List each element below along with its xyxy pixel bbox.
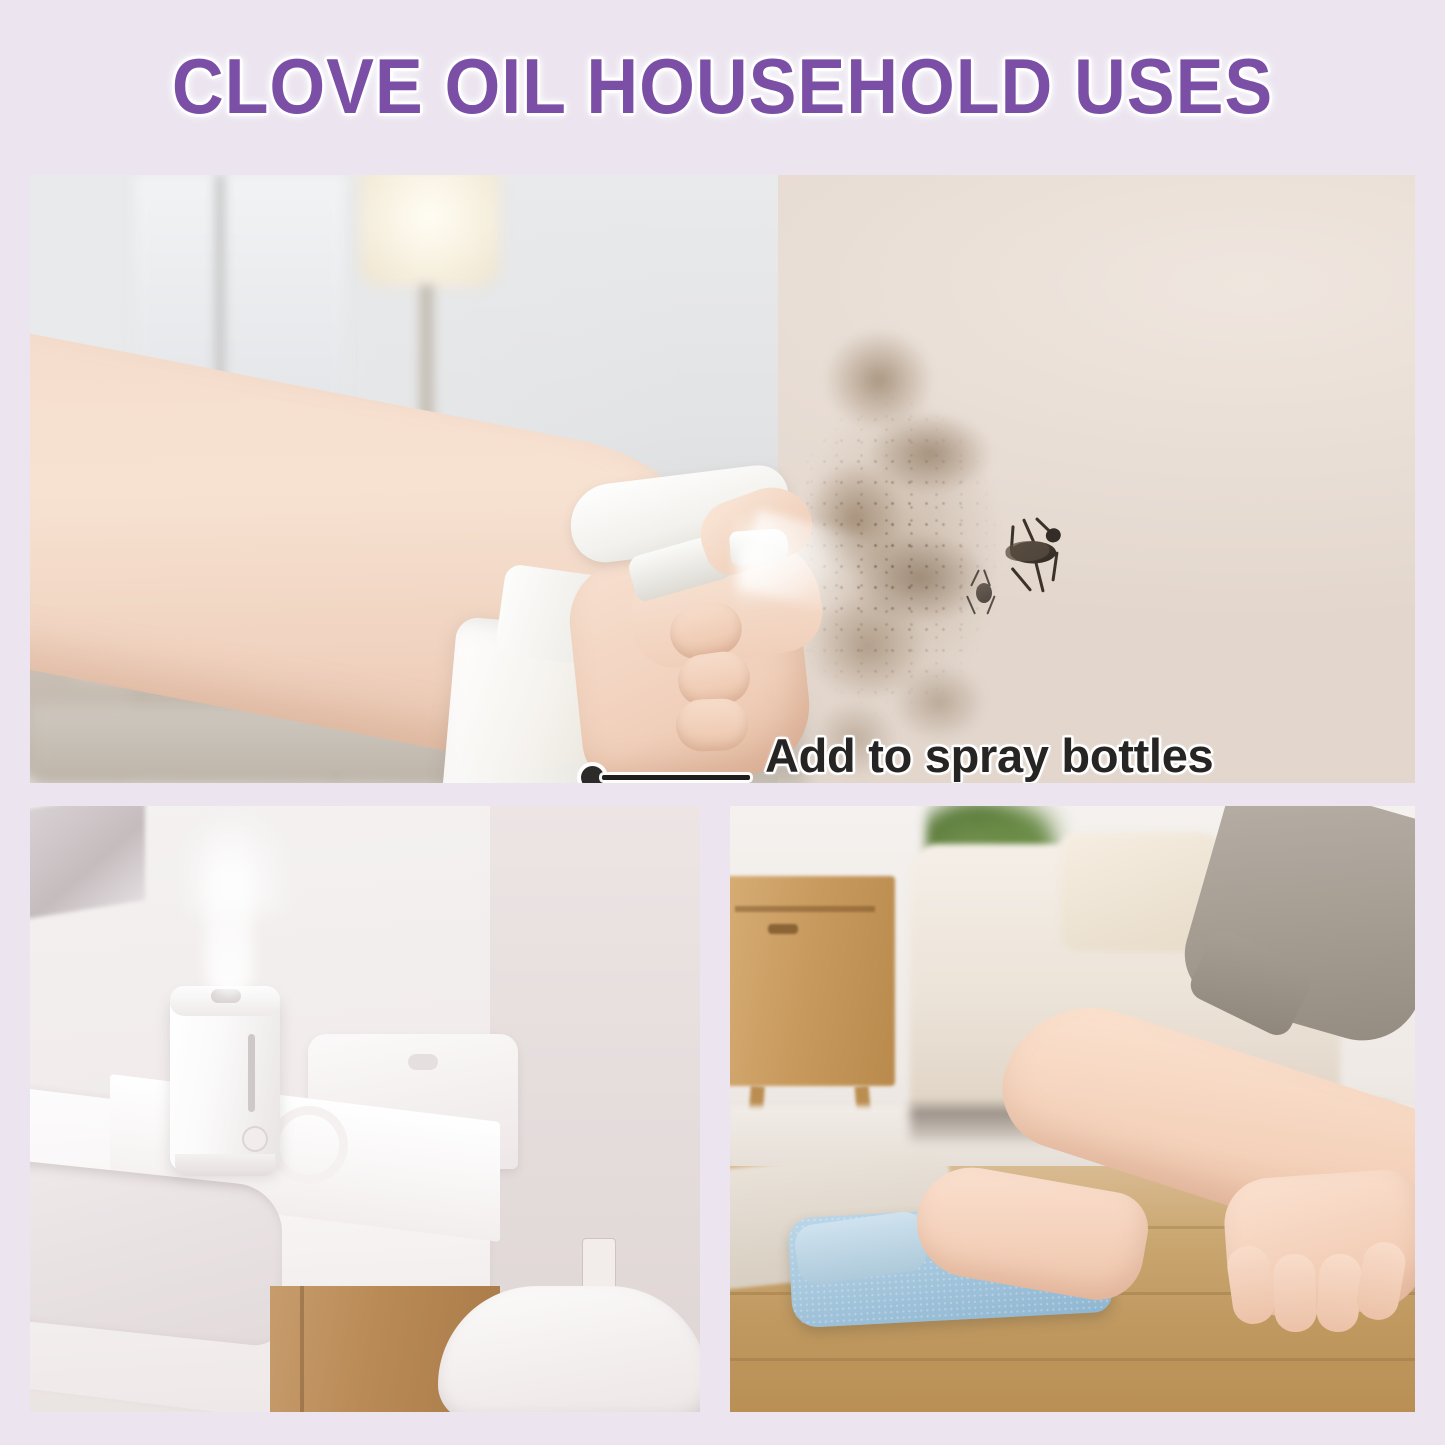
- lamp-shade: [360, 175, 500, 287]
- humidifier-water-window: [248, 1034, 255, 1112]
- finger: [1315, 1253, 1362, 1334]
- toilet-bowl: [438, 1286, 700, 1412]
- infographic-page: CLOVE OIL HOUSEHOLD USES: [0, 0, 1445, 1445]
- pointer-dot-spray-bottle: [581, 766, 604, 783]
- panel-diy-cleaning: Incorporate into DIY cleaning recipes: [730, 806, 1415, 1412]
- page-title: CLOVE OIL HOUSEHOLD USES: [58, 44, 1387, 128]
- panel-air-purification: Use for air purification: [30, 806, 700, 1412]
- mirror: [30, 806, 145, 920]
- humidifier-base: [175, 1154, 275, 1176]
- panel-spray-bottle: Add to spray bottles for aromatic freshe…: [30, 175, 1415, 783]
- drawer-handle: [768, 924, 798, 934]
- finger: [675, 698, 749, 752]
- flush-button: [408, 1054, 438, 1070]
- floor-plank-line: [730, 1358, 1415, 1361]
- insect-spider-icon: [960, 567, 1006, 617]
- side-table-drawer: [735, 906, 875, 912]
- pointer-line-spray-bottle: [602, 775, 750, 780]
- caption-spray-bottle: Add to spray bottles for aromatic freshe…: [765, 728, 1283, 783]
- scene-spray-bottle: [30, 175, 1415, 783]
- sink-basin: [30, 1160, 282, 1348]
- humidifier-knob: [242, 1126, 268, 1152]
- mug: [270, 1106, 348, 1184]
- humidifier-mist-puff: [180, 806, 300, 916]
- scene-diy-cleaning: [730, 806, 1415, 1412]
- finger: [1273, 1253, 1318, 1332]
- scene-air-purification: [30, 806, 700, 1412]
